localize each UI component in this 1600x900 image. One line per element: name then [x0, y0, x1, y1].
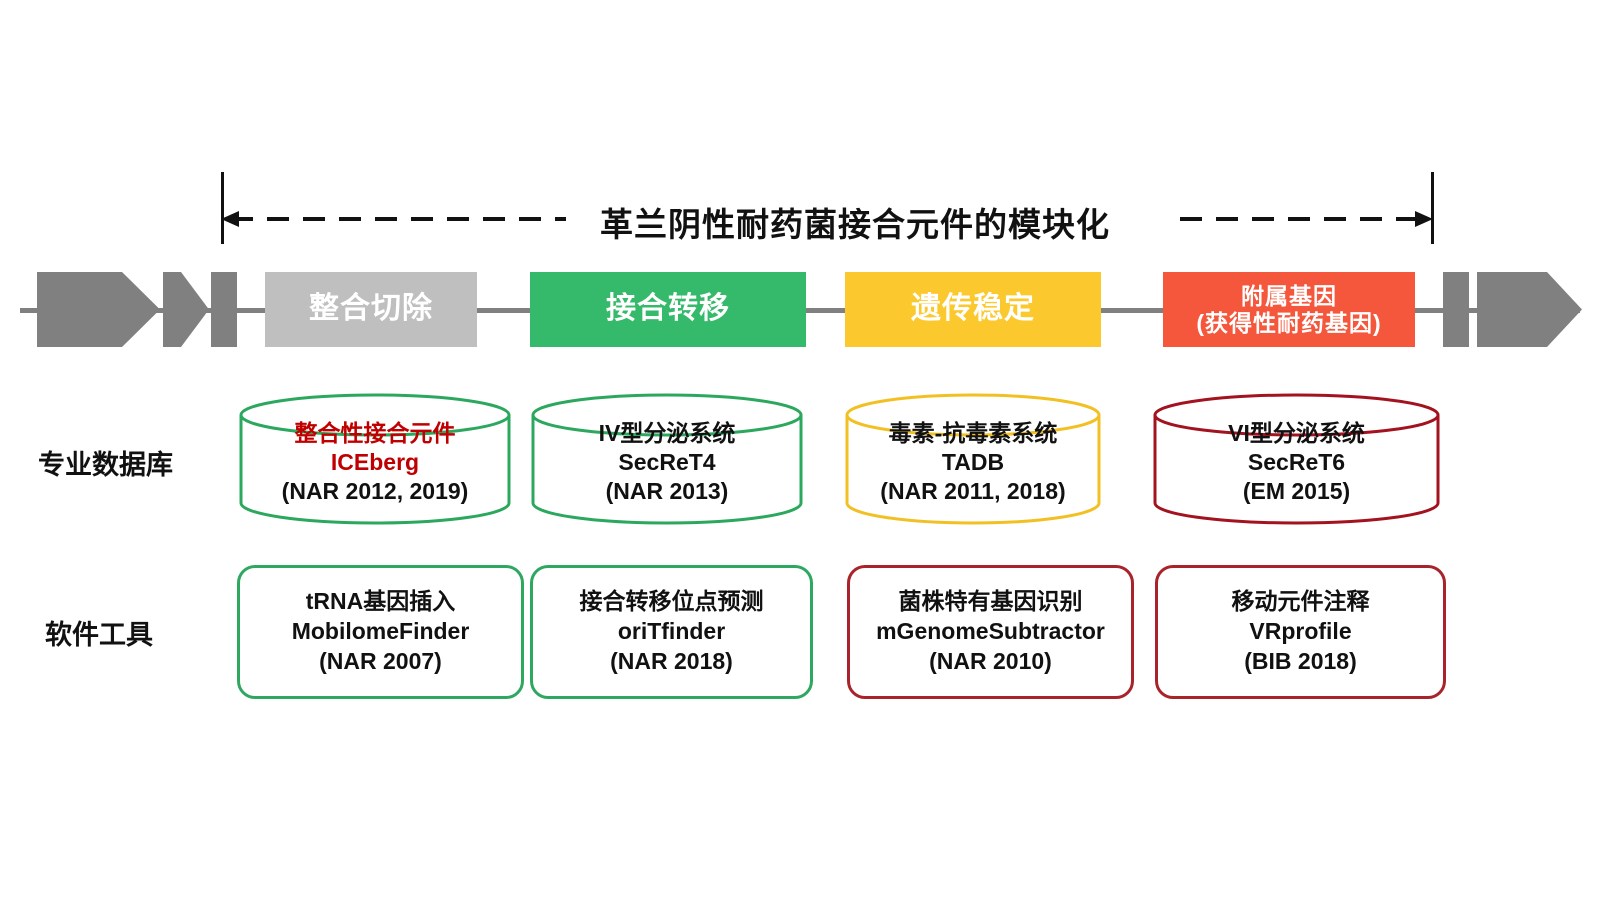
db-line3: (NAR 2013)	[531, 476, 803, 505]
db-line2: ICEberg	[239, 448, 511, 477]
tool-box-mobilomefinder[interactable]: tRNA基因插入 MobilomeFinder (NAR 2007)	[237, 565, 524, 699]
cylinder-text: 整合性接合元件 ICEberg (NAR 2012, 2019)	[239, 413, 511, 505]
db-line1: 毒素-抗毒素系统	[845, 419, 1101, 448]
db-line3: (EM 2015)	[1153, 476, 1440, 505]
tool-line2: oriTfinder	[580, 617, 764, 647]
cylinder-text: IV型分泌系统 SecReT4 (NAR 2013)	[531, 413, 803, 505]
database-cylinder-tadb[interactable]: 毒素-抗毒素系统 TADB (NAR 2011, 2018)	[845, 393, 1101, 525]
cylinder-text: VI型分泌系统 SecReT6 (EM 2015)	[1153, 413, 1440, 505]
tool-line3: (NAR 2007)	[292, 647, 470, 677]
row-label-databases: 专业数据库	[38, 443, 173, 482]
tool-line2: MobilomeFinder	[292, 617, 470, 647]
database-cylinder-secret4[interactable]: IV型分泌系统 SecReT4 (NAR 2013)	[531, 393, 803, 525]
db-line1: VI型分泌系统	[1153, 419, 1440, 448]
db-line1: IV型分泌系统	[531, 419, 803, 448]
module-sublabel: (获得性耐药基因)	[1196, 310, 1381, 336]
tool-line3: (NAR 2018)	[580, 647, 764, 677]
gene-block-left	[211, 272, 237, 347]
tool-text: 菌株特有基因识别 mGenomeSubtractor (NAR 2010)	[876, 587, 1105, 677]
module-block-conjugative-transfer[interactable]: 接合转移	[530, 272, 806, 347]
tool-box-oritfinder[interactable]: 接合转移位点预测 oriTfinder (NAR 2018)	[530, 565, 813, 699]
gene-arrow-right-large	[1477, 272, 1582, 347]
tool-box-mgenomesubtractor[interactable]: 菌株特有基因识别 mGenomeSubtractor (NAR 2010)	[847, 565, 1134, 699]
gene-arrow-left-small	[163, 272, 209, 347]
span-arrow-right	[1180, 208, 1433, 230]
tool-line2: VRprofile	[1232, 617, 1370, 647]
module-label: 遗传稳定	[911, 292, 1035, 327]
module-label: 附属基因	[1241, 283, 1337, 309]
gene-arrow-left-large	[37, 272, 160, 347]
row-label-tools: 软件工具	[45, 613, 153, 652]
tool-line3: (BIB 2018)	[1232, 647, 1370, 677]
module-block-integration-excision[interactable]: 整合切除	[265, 272, 477, 347]
tool-line1: 移动元件注释	[1232, 587, 1370, 617]
module-label: 整合切除	[309, 292, 433, 327]
tool-text: tRNA基因插入 MobilomeFinder (NAR 2007)	[292, 587, 470, 677]
db-line3: (NAR 2012, 2019)	[239, 476, 511, 505]
tool-line2: mGenomeSubtractor	[876, 617, 1105, 647]
page-title: 革兰阴性耐药菌接合元件的模块化	[570, 198, 1140, 246]
db-line2: SecReT6	[1153, 448, 1440, 477]
database-cylinder-secret6[interactable]: VI型分泌系统 SecReT6 (EM 2015)	[1153, 393, 1440, 525]
gene-block-right	[1443, 272, 1469, 347]
db-line2: TADB	[845, 448, 1101, 477]
database-cylinder-iceberg[interactable]: 整合性接合元件 ICEberg (NAR 2012, 2019)	[239, 393, 511, 525]
tool-line1: tRNA基因插入	[292, 587, 470, 617]
db-line1: 整合性接合元件	[239, 419, 511, 448]
tool-line1: 接合转移位点预测	[580, 587, 764, 617]
tool-line1: 菌株特有基因识别	[876, 587, 1105, 617]
cylinder-text: 毒素-抗毒素系统 TADB (NAR 2011, 2018)	[845, 413, 1101, 505]
module-block-genetic-stability[interactable]: 遗传稳定	[845, 272, 1101, 347]
tool-box-vrprofile[interactable]: 移动元件注释 VRprofile (BIB 2018)	[1155, 565, 1446, 699]
db-line2: SecReT4	[531, 448, 803, 477]
module-block-accessory-genes[interactable]: 附属基因 (获得性耐药基因)	[1163, 272, 1415, 347]
tool-line3: (NAR 2010)	[876, 647, 1105, 677]
module-label: 接合转移	[606, 292, 730, 327]
tool-text: 接合转移位点预测 oriTfinder (NAR 2018)	[580, 587, 764, 677]
span-arrow-left	[221, 208, 566, 230]
diagram-canvas: 革兰阴性耐药菌接合元件的模块化 整合切除 接合转移 遗传稳定 附属基因 (获得性…	[0, 0, 1600, 900]
db-line3: (NAR 2011, 2018)	[845, 476, 1101, 505]
tool-text: 移动元件注释 VRprofile (BIB 2018)	[1232, 587, 1370, 677]
